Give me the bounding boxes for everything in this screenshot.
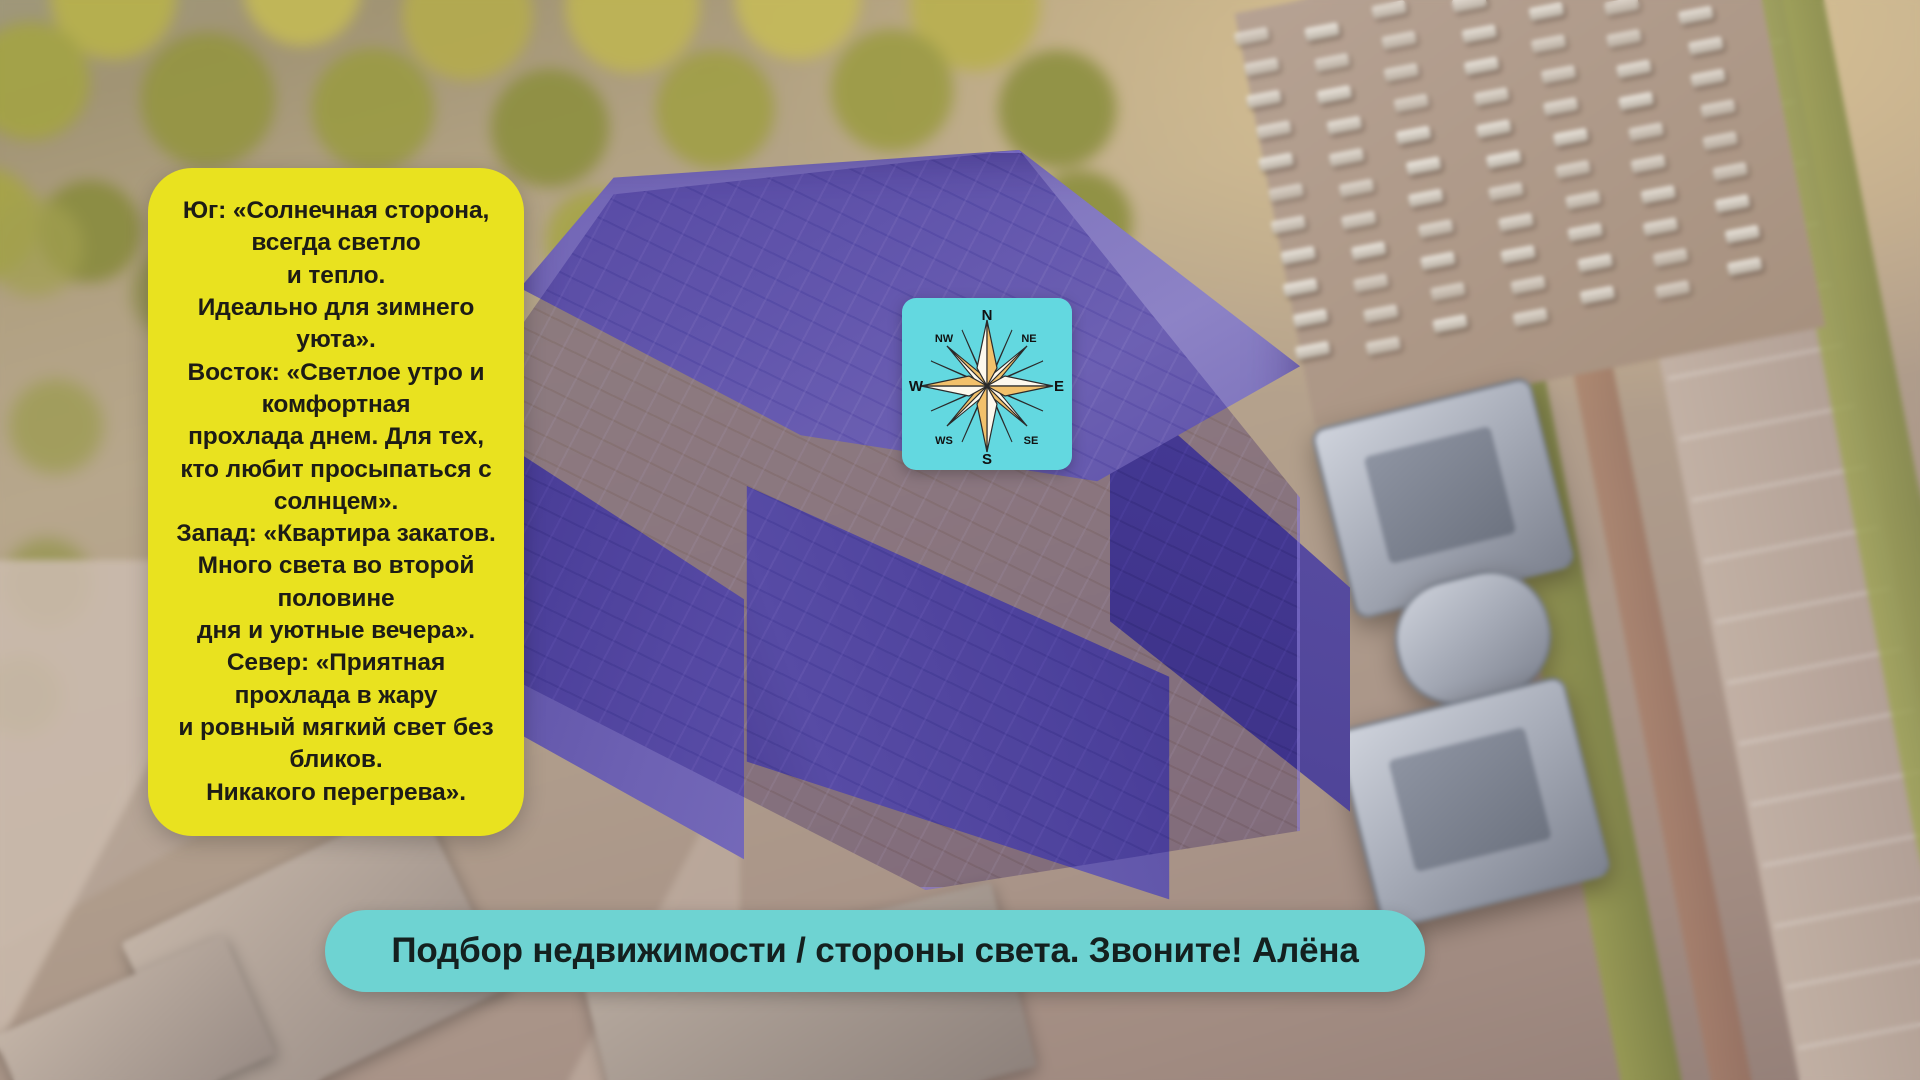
parked-car — [1486, 150, 1522, 169]
parked-car — [1628, 122, 1664, 141]
parked-car — [1326, 116, 1362, 135]
parked-car — [1234, 27, 1270, 46]
parked-car — [1714, 194, 1750, 213]
compass-label-n: N — [982, 307, 993, 324]
parked-car — [1643, 217, 1679, 236]
parked-car — [1451, 0, 1487, 13]
parked-car — [1476, 119, 1512, 138]
parked-car — [1329, 148, 1365, 167]
highlighted-building — [520, 150, 1300, 890]
parked-car — [1418, 219, 1454, 238]
parked-car — [1464, 56, 1500, 75]
parked-car — [1712, 162, 1748, 181]
parked-car — [1510, 275, 1546, 294]
parked-car — [1678, 6, 1714, 25]
parked-car — [1616, 59, 1652, 78]
contact-banner-text: Подбор недвижимости / стороны света. Зво… — [391, 931, 1358, 971]
parked-car — [1500, 245, 1536, 264]
compass-label-ne: NE — [1021, 333, 1036, 345]
parked-car — [1432, 314, 1468, 333]
parked-car — [1577, 253, 1613, 272]
compass-label-se: SE — [1024, 435, 1039, 447]
parked-car — [1653, 248, 1689, 267]
parked-car — [1256, 120, 1292, 139]
parked-car — [1393, 93, 1429, 112]
parked-car — [1541, 65, 1577, 84]
parked-car — [1363, 304, 1399, 323]
parked-car — [1553, 128, 1589, 147]
parked-car — [1618, 92, 1654, 111]
contact-banner[interactable]: Подбор недвижимости / стороны света. Зво… — [325, 910, 1425, 992]
parked-car — [1371, 0, 1407, 19]
parked-car — [1353, 273, 1389, 292]
parked-car — [1461, 24, 1497, 43]
parked-car — [1579, 285, 1615, 304]
parked-car — [1512, 308, 1548, 327]
parked-car — [1498, 213, 1534, 232]
parked-car — [1567, 223, 1603, 242]
parked-car — [1725, 225, 1761, 244]
parked-car — [1246, 89, 1282, 108]
compass-label-ws: WS — [935, 435, 953, 447]
compass-label-e: E — [1054, 378, 1064, 395]
parked-car — [1341, 211, 1377, 230]
parked-car — [1314, 53, 1350, 72]
orientation-info-card: Юг: «Солнечная сторона, всегда светло и … — [148, 168, 524, 836]
orientation-info-text: Юг: «Солнечная сторона, всегда светло и … — [176, 195, 495, 809]
parked-car — [1381, 31, 1417, 50]
parked-car — [1688, 36, 1724, 55]
parked-car — [1604, 0, 1640, 16]
parked-car — [1488, 182, 1524, 201]
parked-car — [1655, 280, 1691, 299]
parked-car — [1543, 97, 1579, 116]
parked-car — [1555, 160, 1591, 179]
parked-car — [1396, 126, 1432, 145]
compass-label-w: W — [909, 378, 924, 395]
parked-car — [1383, 63, 1419, 82]
parked-car — [1702, 131, 1738, 150]
compass-label-nw: NW — [935, 333, 954, 345]
compass-rose: N NE E SE S WS W NW — [902, 298, 1072, 470]
parked-car — [1365, 336, 1401, 355]
parked-car — [1420, 251, 1456, 270]
parked-car — [1316, 85, 1352, 104]
parked-car — [1565, 190, 1601, 209]
parked-car — [1690, 68, 1726, 87]
parked-car — [1430, 282, 1466, 301]
parked-car — [1630, 154, 1666, 173]
parked-car — [1295, 341, 1331, 360]
parked-car — [1304, 22, 1340, 41]
compass-label-s: S — [982, 451, 992, 468]
parked-car — [1531, 34, 1567, 53]
compass-rose-graphic: N NE E SE S WS W NW — [902, 298, 1072, 470]
parked-car — [1700, 99, 1736, 118]
parked-car — [1528, 2, 1564, 21]
parked-car — [1408, 188, 1444, 207]
parked-car — [1727, 257, 1763, 276]
parked-car — [1244, 57, 1280, 76]
parked-car — [1606, 29, 1642, 48]
parked-car — [1474, 87, 1510, 106]
parked-car — [1351, 241, 1387, 260]
parked-car — [1640, 185, 1676, 204]
parked-car — [1406, 156, 1442, 175]
parked-car — [1339, 178, 1375, 197]
poster-canvas: Юг: «Солнечная сторона, всегда светло и … — [0, 0, 1920, 1080]
